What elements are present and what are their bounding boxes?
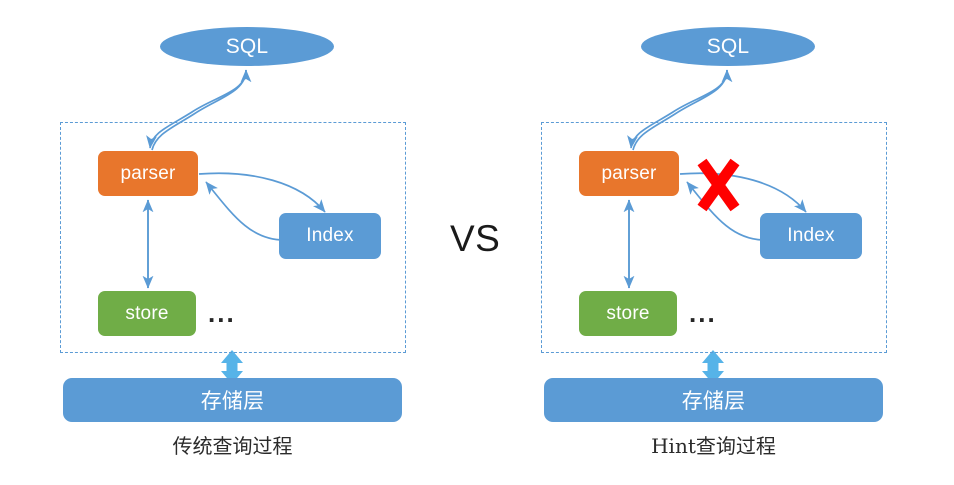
index-node-right[interactable]: Index [760, 213, 862, 259]
diagram-canvas: SQL parser Index store ... 存储层 传统查询过程 VS… [0, 0, 954, 485]
storage-layer-node-right[interactable]: 存储层 [544, 378, 883, 422]
parser-node-right[interactable]: parser [579, 151, 679, 196]
store-ellipsis-right: ... [689, 300, 717, 326]
sql-node-right[interactable]: SQL [641, 27, 815, 66]
store-node-right-label: store [606, 303, 649, 325]
sql-node-left-label: SQL [226, 35, 269, 59]
storage-layer-left-label: 存储层 [201, 385, 265, 415]
index-node-right-label: Index [787, 225, 834, 247]
parser-node-left-label: parser [120, 163, 175, 185]
sql-node-right-label: SQL [707, 35, 750, 59]
index-node-left[interactable]: Index [279, 213, 381, 259]
parser-node-left[interactable]: parser [98, 151, 198, 196]
index-node-left-label: Index [306, 225, 353, 247]
parser-node-right-label: parser [601, 163, 656, 185]
store-node-left-label: store [125, 303, 168, 325]
storage-layer-node-left[interactable]: 存储层 [63, 378, 402, 422]
panel-caption-left: 传统查询过程 [63, 430, 402, 459]
store-ellipsis-left: ... [208, 300, 236, 326]
store-node-left[interactable]: store [98, 291, 196, 336]
vs-label: VS [450, 218, 500, 260]
store-node-right[interactable]: store [579, 291, 677, 336]
panel-caption-right: Hint查询过程 [544, 430, 883, 459]
sql-node-left[interactable]: SQL [160, 27, 334, 66]
storage-layer-right-label: 存储层 [682, 385, 746, 415]
